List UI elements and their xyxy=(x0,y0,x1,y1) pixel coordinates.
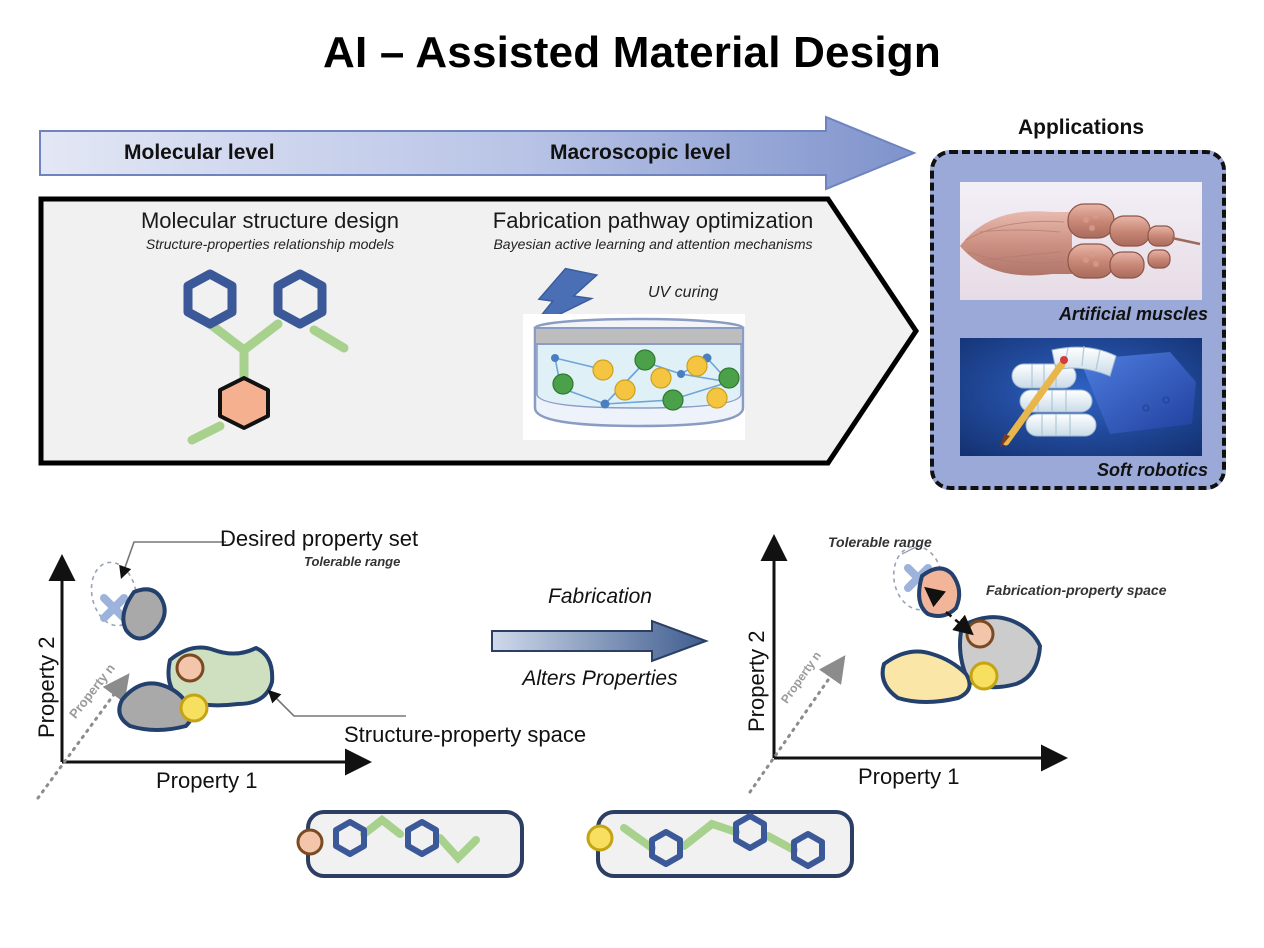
polymer-chip-orange-graphic xyxy=(290,806,530,886)
space-leader-line xyxy=(270,692,406,716)
molecular-design-heading-group: Molecular structure design Structure-pro… xyxy=(100,208,440,252)
left-plot-graphics xyxy=(26,520,496,820)
orange-marker xyxy=(967,621,993,647)
left-plot-x-axis-label: Property 1 xyxy=(156,768,258,794)
benzene-ring-left xyxy=(188,274,232,324)
fabrication-arrow-shape xyxy=(490,619,710,663)
applications-title: Applications xyxy=(928,116,1234,140)
muscle-fiber-photo xyxy=(960,182,1202,300)
yellow-marker xyxy=(181,695,207,721)
functional-group-hexagon xyxy=(220,378,268,428)
polymer-chip-yellow-graphic xyxy=(580,806,860,886)
applications-section: Applications xyxy=(928,116,1234,496)
fabrication-arrow-group: Fabrication Alters Properties xyxy=(490,585,710,705)
applications-caption-1: Soft robotics xyxy=(1097,460,1208,481)
applications-panel: Artificial muscles xyxy=(930,150,1226,490)
petri-rim-band xyxy=(535,328,743,344)
left-plot-y-axis-label: Property 2 xyxy=(34,637,60,739)
molecular-level-label: Molecular level xyxy=(124,141,275,165)
desired-leader-line xyxy=(122,542,226,576)
fabrication-optimization-heading: Fabrication pathway optimization xyxy=(438,208,868,234)
yellow-blob xyxy=(883,652,970,702)
molecule-diagram xyxy=(148,268,398,448)
applications-caption-0: Artificial muscles xyxy=(1059,304,1208,325)
desired-property-set-label: Desired property set xyxy=(220,526,418,552)
target-cross-marker xyxy=(104,598,124,618)
fabrication-label: Fabrication xyxy=(490,585,710,609)
uv-curing-label: UV curing xyxy=(648,284,718,302)
polymer-chip-yellow xyxy=(580,806,860,891)
alters-properties-label: Alters Properties xyxy=(490,667,710,691)
macroscopic-level-label: Macroscopic level xyxy=(550,141,731,165)
fabrication-property-space-plot: Property 1 Property 2 Property n Tolerab… xyxy=(732,520,1152,820)
level-arrow-banner: Molecular level Macroscopic level xyxy=(38,115,918,191)
left-tolerable-range-label: Tolerable range xyxy=(304,554,400,569)
chip-box xyxy=(308,812,522,876)
page-title: AI – Assisted Material Design xyxy=(0,28,1264,78)
chip-orange-dot xyxy=(298,830,322,854)
molecule-bonds xyxy=(192,324,344,440)
chip-box xyxy=(598,812,852,876)
fabrication-optimization-heading-group: Fabrication pathway optimization Bayesia… xyxy=(438,208,868,252)
right-plot-x-axis-label: Property 1 xyxy=(858,764,960,790)
chip-yellow-dot xyxy=(588,826,612,850)
polymer-chip-orange xyxy=(290,806,530,891)
molecular-design-subheading: Structure-properties relationship models xyxy=(100,236,440,252)
structure-property-space-plot: Property 1 Property 2 Property n Desired… xyxy=(26,520,496,820)
yellow-marker xyxy=(971,663,997,689)
peach-blob xyxy=(919,568,959,616)
gray-blob-upper xyxy=(123,589,164,638)
structure-property-space-label: Structure-property space xyxy=(344,722,586,748)
orange-marker xyxy=(177,655,203,681)
soft-gripper-photo xyxy=(960,338,1202,456)
right-tolerable-range-label: Tolerable range xyxy=(828,534,932,550)
fabrication-optimization-subheading: Bayesian active learning and attention m… xyxy=(438,236,868,252)
fabrication-property-space-label: Fabrication-property space xyxy=(986,582,1167,598)
molecular-design-heading: Molecular structure design xyxy=(100,208,440,234)
right-plot-y-axis-label: Property 2 xyxy=(744,631,770,733)
benzene-ring-right xyxy=(278,274,322,324)
main-process-panel: Molecular structure design Structure-pro… xyxy=(38,196,920,466)
